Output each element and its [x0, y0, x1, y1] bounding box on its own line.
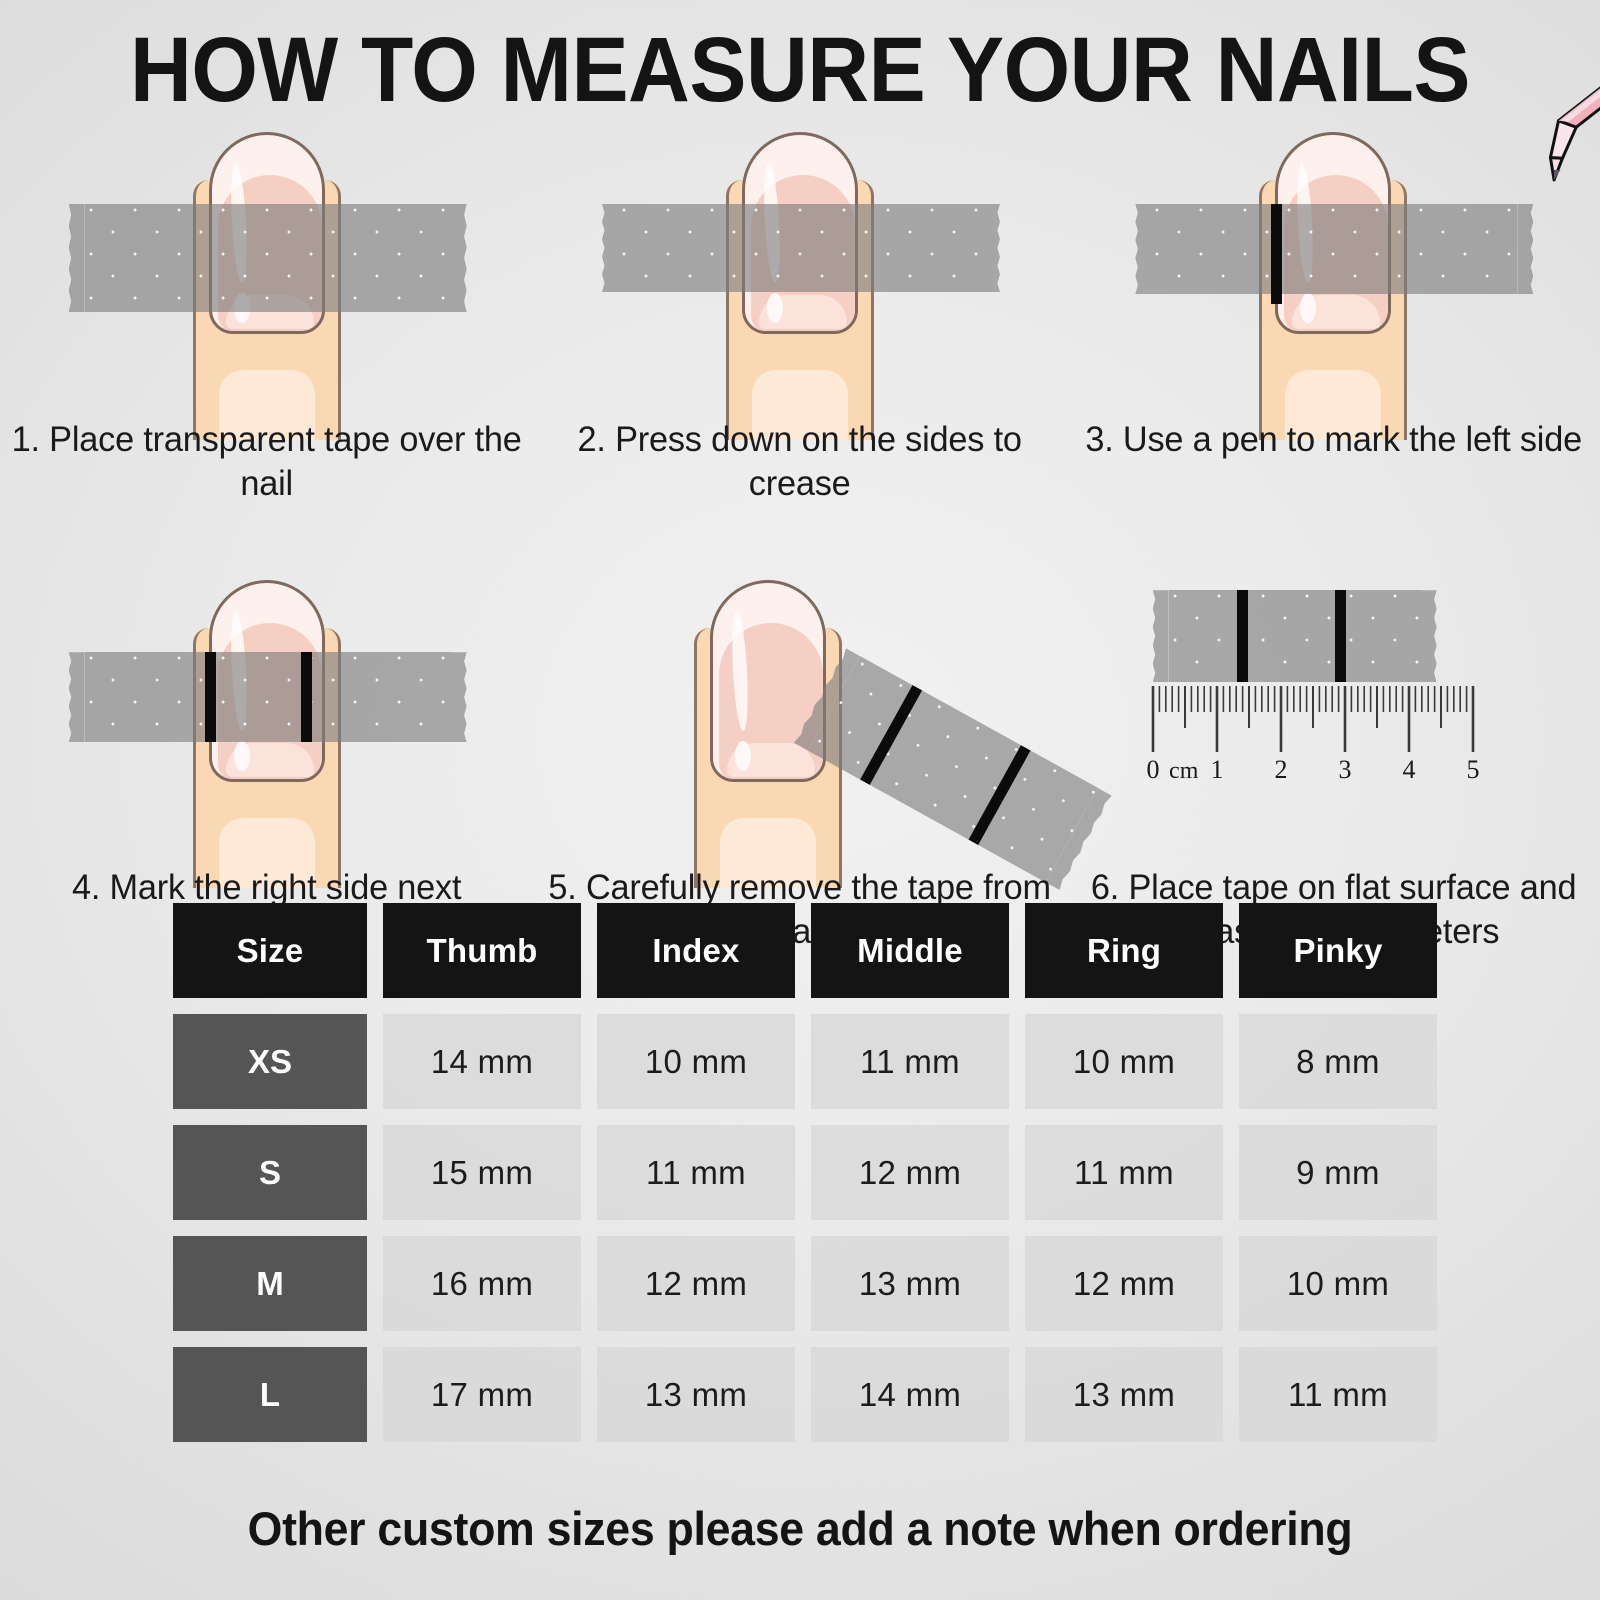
cell-xs-pinky: 8 mm: [1239, 1014, 1437, 1109]
table-row: L17 mm13 mm14 mm13 mm11 mm: [173, 1347, 1437, 1442]
table-row: M16 mm12 mm13 mm12 mm10 mm: [173, 1236, 1437, 1331]
nail-highlight-small: [234, 741, 250, 771]
steps-section: 1. Place transparent tape over the nail: [0, 120, 1600, 954]
cell-m-pinky: 10 mm: [1239, 1236, 1437, 1331]
ruler-tick-4: 4: [1402, 755, 1415, 784]
tape-zigzag-left: [1153, 590, 1169, 682]
tape-zigzag-left: [69, 204, 85, 312]
size-chart-table: SizeThumbIndexMiddleRingPinky XS14 mm10 …: [173, 903, 1437, 1458]
step-5: 5. Carefully remove the tape from nail: [533, 568, 1066, 954]
cell-l-middle: 14 mm: [811, 1347, 1009, 1442]
finger-illustration: [700, 120, 900, 420]
table-header-thumb: Thumb: [383, 903, 581, 998]
cell-l-thumb: 17 mm: [383, 1347, 581, 1442]
cell-xs-middle: 11 mm: [811, 1014, 1009, 1109]
nail-plate: [710, 580, 826, 782]
table-header-middle: Middle: [811, 903, 1009, 998]
nail-highlight-small: [767, 293, 783, 323]
tape-peeled-strip: [808, 656, 1098, 882]
tape-strip: [618, 204, 984, 292]
nail-highlight-small: [1300, 293, 1316, 323]
tape-texture-dots: [85, 204, 451, 312]
tape-strip: [85, 652, 451, 742]
cell-s-middle: 12 mm: [811, 1125, 1009, 1220]
step-1-caption: 1. Place transparent tape over the nail: [5, 408, 528, 506]
step-1: 1. Place transparent tape over the nail: [0, 120, 533, 506]
tape-zigzag-right: [1517, 204, 1533, 294]
tape-strip: [1169, 590, 1421, 682]
page-title: HOW TO MEASURE YOUR NAILS: [56, 22, 1544, 119]
finger-illustration: [668, 568, 868, 868]
ruler-tick-3: 3: [1338, 755, 1351, 784]
pen-mark-left: [1237, 590, 1248, 682]
tape-zigzag-left: [602, 204, 618, 292]
cell-xs-thumb: 14 mm: [383, 1014, 581, 1109]
step-6-illustration: 012345cm: [1067, 568, 1600, 856]
tape-zigzag-right: [451, 204, 467, 312]
ruler: 012345cm: [1135, 680, 1495, 800]
pen-mark-right: [301, 652, 312, 742]
table-body: XS14 mm10 mm11 mm10 mm8 mmS15 mm11 mm12 …: [173, 1014, 1437, 1442]
cell-m-middle: 13 mm: [811, 1236, 1009, 1331]
ruler-tick-5: 5: [1466, 755, 1479, 784]
pen-mark-left: [205, 652, 216, 742]
nail-highlight-small: [735, 741, 751, 771]
steps-row-bottom: 4. Mark the right side next: [0, 568, 1600, 954]
finger-illustration: [167, 568, 367, 868]
tape-texture-dots: [618, 204, 984, 292]
step-3-illustration: [1067, 120, 1600, 408]
step-3-caption: 3. Use a pen to mark the left side: [1072, 408, 1595, 462]
ruler-tick-1: 1: [1210, 755, 1223, 784]
tape-strip: [85, 204, 451, 312]
table-row: XS14 mm10 mm11 mm10 mm8 mm: [173, 1014, 1437, 1109]
table-header-index: Index: [597, 903, 795, 998]
cell-l-pinky: 11 mm: [1239, 1347, 1437, 1442]
tape-texture-dots: [808, 656, 1098, 882]
tape-texture-dots: [1169, 590, 1421, 682]
cell-m-thumb: 16 mm: [383, 1236, 581, 1331]
size-label-xs: XS: [173, 1014, 367, 1109]
table-header-ring: Ring: [1025, 903, 1223, 998]
tape-texture-dots: [1151, 204, 1517, 294]
steps-row-top: 1. Place transparent tape over the nail: [0, 120, 1600, 506]
cell-xs-ring: 10 mm: [1025, 1014, 1223, 1109]
finger-illustration: [167, 120, 367, 420]
table-row: S15 mm11 mm12 mm11 mm9 mm: [173, 1125, 1437, 1220]
finger-illustration: [1233, 120, 1433, 420]
cell-s-index: 11 mm: [597, 1125, 795, 1220]
step-1-illustration: [0, 120, 533, 408]
step-2-caption: 2. Press down on the sides to crease: [539, 408, 1062, 506]
step-2-illustration: [533, 120, 1066, 408]
table-header-pinky: Pinky: [1239, 903, 1437, 998]
tape-zigzag-left: [1135, 204, 1151, 294]
step-3: 3. Use a pen to mark the left side: [1067, 120, 1600, 506]
ruler-tick-2: 2: [1274, 755, 1287, 784]
tape-texture-dots: [85, 652, 451, 742]
cell-s-pinky: 9 mm: [1239, 1125, 1437, 1220]
pen-mark-right: [1335, 590, 1346, 682]
step-6: 012345cm 6. Place tape on flat surface a…: [1067, 568, 1600, 954]
cell-l-index: 13 mm: [597, 1347, 795, 1442]
table-header-size: Size: [173, 903, 367, 998]
step-5-illustration: [533, 568, 1066, 856]
cell-m-index: 12 mm: [597, 1236, 795, 1331]
table-header-row: SizeThumbIndexMiddleRingPinky: [173, 903, 1437, 998]
tape-zigzag-right: [984, 204, 1000, 292]
size-label-s: S: [173, 1125, 367, 1220]
tape-strip: [1151, 204, 1517, 294]
tape-zigzag-left: [69, 652, 85, 742]
cell-m-ring: 12 mm: [1025, 1236, 1223, 1331]
footer-note: Other custom sizes please add a note whe…: [40, 1501, 1560, 1556]
size-label-l: L: [173, 1347, 367, 1442]
pen-mark-left: [1271, 204, 1282, 304]
cell-l-ring: 13 mm: [1025, 1347, 1223, 1442]
tape-zigzag-right: [1421, 590, 1437, 682]
ruler-unit-label: cm: [1169, 758, 1199, 784]
cell-s-ring: 11 mm: [1025, 1125, 1223, 1220]
step-2: 2. Press down on the sides to crease: [533, 120, 1066, 506]
cell-s-thumb: 15 mm: [383, 1125, 581, 1220]
cell-xs-index: 10 mm: [597, 1014, 795, 1109]
step-4: 4. Mark the right side next: [0, 568, 533, 954]
tape-body: [808, 656, 1098, 882]
ruler-tick-0: 0: [1146, 755, 1159, 784]
tape-zigzag-right: [451, 652, 467, 742]
step-4-illustration: [0, 568, 533, 856]
size-label-m: M: [173, 1236, 367, 1331]
